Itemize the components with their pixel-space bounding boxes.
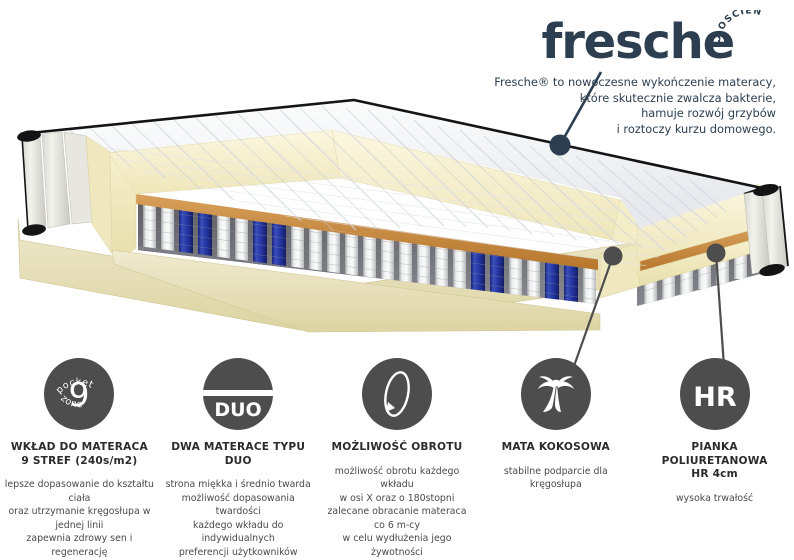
brand-tagline: Fresche® to nowoczesne wykończenie mater… (476, 75, 776, 137)
duo-label: DUO (215, 399, 262, 421)
pocket-9-zone-icon: pocket 9 zone (44, 358, 114, 430)
feature-cell-hr-foam[interactable]: HR PIANKA POLIURETANOWA HR 4cm wysoka tr… (635, 358, 794, 542)
palm-tree-icon (521, 358, 591, 430)
feature-desc: możliwość obrotu każdego wkładu w osi X … (322, 465, 473, 560)
bioscience-text: BIOSCIENCE (718, 10, 763, 43)
hr-foam-icon: HR (680, 358, 750, 430)
feature-title: MOŻLIWOŚĆ OBROTU (332, 441, 463, 455)
feature-desc: stabilne podparcie dla kręgosłupa (480, 465, 631, 492)
duo-icon: DUO (203, 358, 273, 430)
feature-desc: strona miękka i średnio twarda możliwość… (163, 478, 314, 560)
feature-title: WKŁAD DO MATERACA 9 STREF (240s/m2) (11, 441, 148, 468)
feature-cell-duo[interactable]: DUO DWA MATERACE TYPU DUO strona miękka … (159, 358, 318, 542)
svg-text:BIOSCIENCE: BIOSCIENCE (718, 10, 763, 43)
feature-title: DWA MATERACE TYPU DUO (163, 441, 314, 468)
brand-wordmark: fresche (542, 18, 734, 66)
feature-cell-coconut[interactable]: MATA KOKOSOWA stabilne podparcie dla krę… (476, 358, 635, 542)
mattress-side-edge-left-foam (86, 136, 112, 254)
feature-title: MATA KOKOSOWA (502, 441, 610, 455)
feature-row: pocket 9 zone WKŁAD DO MATERACA 9 STREF … (0, 358, 794, 542)
feature-desc: wysoka trwałość (676, 492, 753, 506)
brand-block: fresche BIOSCIENCE Fresche® to nowoczesn… (476, 8, 776, 137)
hr-label: HR (693, 382, 737, 413)
brand-wordmark-row: fresche BIOSCIENCE (476, 8, 776, 66)
feature-desc: lepsze dopasowanie do kształtu ciała ora… (4, 478, 155, 560)
rotation-loop-icon (362, 358, 432, 430)
feature-cell-rotation[interactable]: MOŻLIWOŚĆ OBROTU możliwość obrotu każdeg… (318, 358, 477, 542)
bioscience-arc-text: BIOSCIENCE (718, 10, 780, 66)
feature-cell-pocket-9-zone[interactable]: pocket 9 zone WKŁAD DO MATERACA 9 STREF … (0, 358, 159, 542)
feature-title: PIANKA POLIURETANOWA HR 4cm (639, 441, 790, 482)
